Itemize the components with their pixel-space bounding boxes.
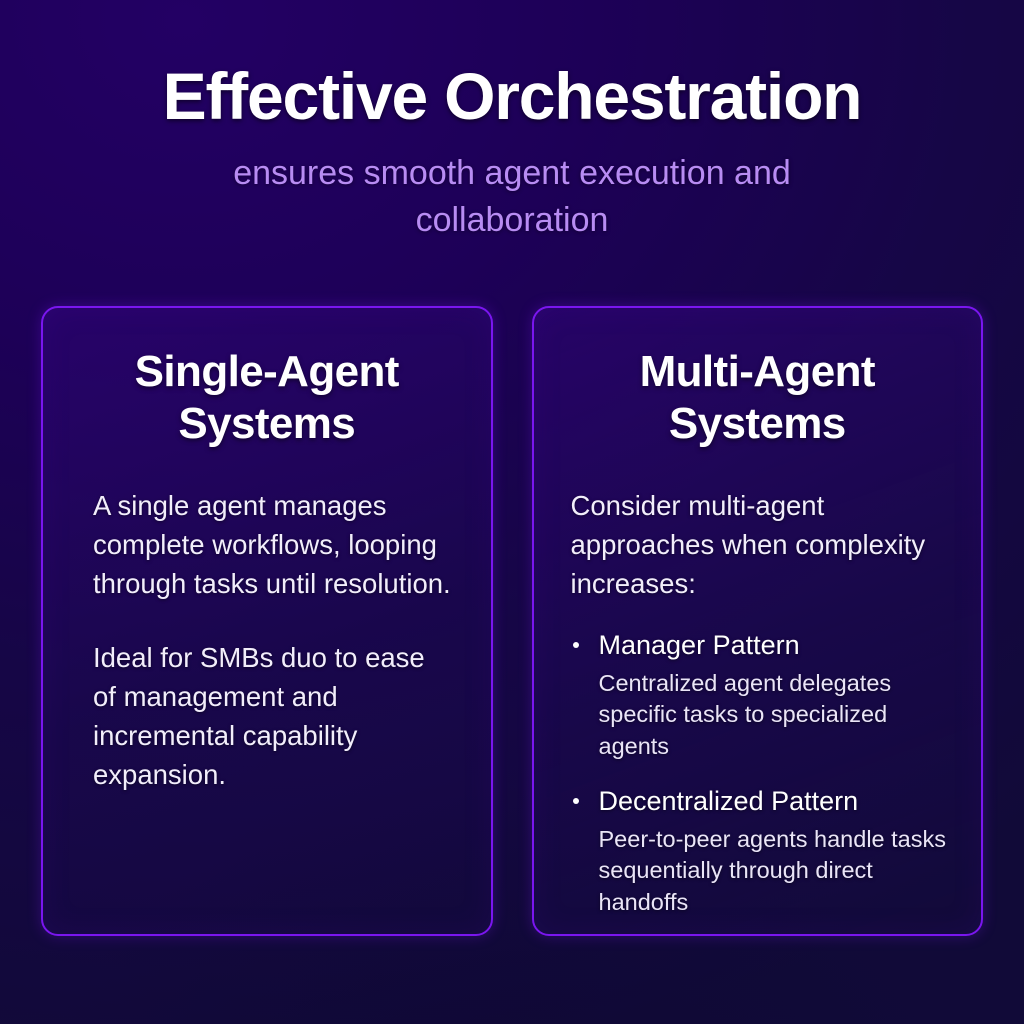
slide-root: Effective Orchestration ensures smooth a… — [0, 0, 1024, 1024]
cards-row: Single-Agent Systems A single agent mana… — [41, 306, 983, 936]
list-item-description: Centralized agent delegates specific tas… — [599, 663, 948, 762]
pattern-list: Manager Pattern Centralized agent delega… — [568, 629, 948, 918]
card-paragraph: A single agent manages complete workflow… — [77, 486, 457, 603]
list-item: Manager Pattern Centralized agent delega… — [571, 629, 948, 762]
card-single-agent-systems: Single-Agent Systems A single agent mana… — [41, 306, 493, 936]
card-lead-text: Consider multi-agent approaches when com… — [568, 486, 948, 603]
page-title: Effective Orchestration — [0, 0, 1024, 129]
card-body-single-agent: A single agent manages complete workflow… — [77, 451, 457, 794]
list-item-description: Peer-to-peer agents handle tasks sequent… — [599, 819, 948, 918]
slide-header: Effective Orchestration ensures smooth a… — [0, 0, 1024, 244]
card-title-multi-agent: Multi-Agent Systems — [568, 346, 948, 451]
list-item-title: Manager Pattern — [599, 629, 948, 663]
card-title-single-agent: Single-Agent Systems — [77, 346, 457, 451]
page-subtitle: ensures smooth agent execution and colla… — [162, 129, 862, 244]
card-multi-agent-systems: Multi-Agent Systems Consider multi-agent… — [532, 306, 984, 936]
bullet-dot-icon — [573, 798, 579, 804]
list-item-title: Decentralized Pattern — [599, 785, 948, 819]
card-paragraph: Ideal for SMBs duo to ease of management… — [77, 638, 457, 794]
bullet-dot-icon — [573, 642, 579, 648]
card-body-multi-agent: Consider multi-agent approaches when com… — [568, 451, 948, 919]
list-item: Decentralized Pattern Peer-to-peer agent… — [571, 785, 948, 918]
